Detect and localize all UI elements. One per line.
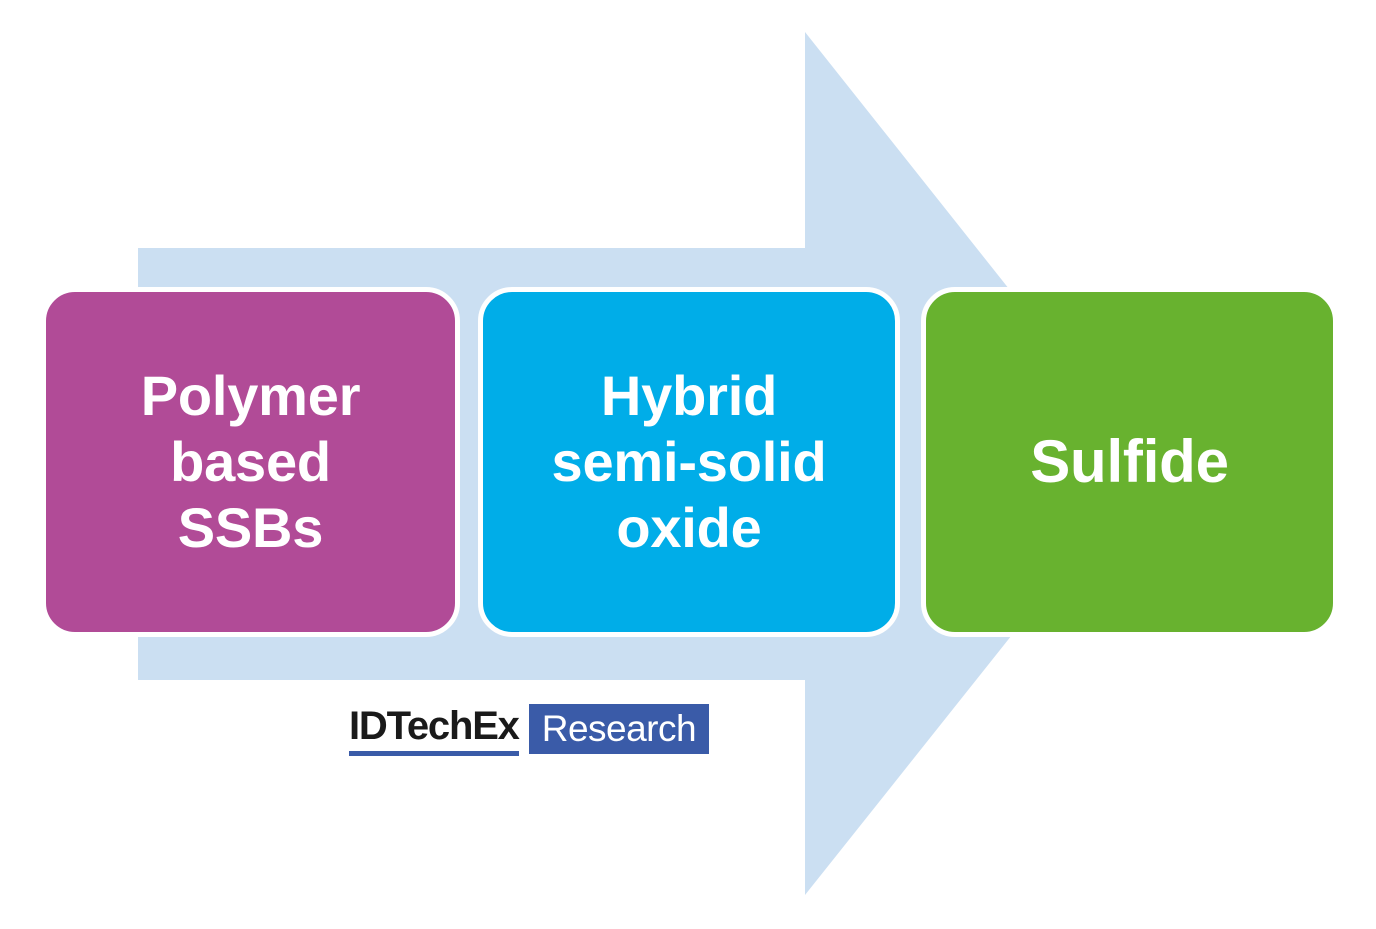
idtechex-research-logo: IDTechEx Research	[349, 703, 709, 759]
stage-label-sulfide: Sulfide	[1016, 427, 1243, 498]
stage-box-hybrid-semi-solid-oxide[interactable]: Hybrid semi-solid oxide	[478, 287, 900, 637]
logo-research-badge-label: Research	[542, 710, 696, 747]
stage-label-polymer-based-ssbs: Polymer based SSBs	[127, 363, 375, 561]
logo-research-badge: Research	[529, 704, 709, 754]
logo-underline-rule	[349, 751, 519, 756]
stage-label-hybrid-semi-solid-oxide: Hybrid semi-solid oxide	[538, 363, 841, 561]
logo-wordmark: IDTechEx	[349, 706, 519, 746]
stage-box-sulfide[interactable]: Sulfide	[921, 287, 1338, 637]
logo-wordmark-wrap: IDTechEx	[349, 703, 529, 759]
stage-box-polymer-based-ssbs[interactable]: Polymer based SSBs	[41, 287, 460, 637]
diagram-canvas: Polymer based SSBs Hybrid semi-solid oxi…	[0, 0, 1376, 929]
